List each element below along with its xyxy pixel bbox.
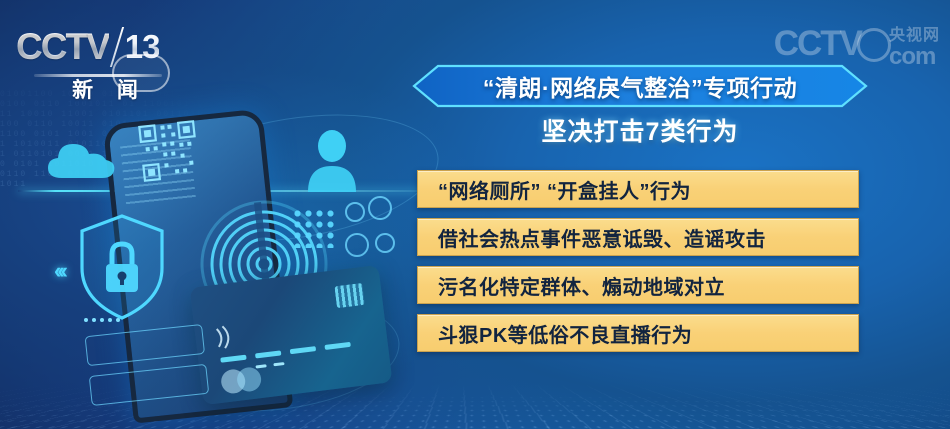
list-item: 斗狠PK等低俗不良直播行为 (417, 314, 859, 352)
cloud-icon (46, 138, 116, 182)
network-node-2 (368, 196, 392, 220)
card-brand-logo (220, 366, 265, 395)
watermark-brand: CCTV (774, 26, 861, 62)
broadcast-screen: 01001100 10110 01101 0100110 1011001 001… (0, 0, 950, 429)
list-item-label: 借社会热点事件恶意诋毁、造谣攻击 (438, 223, 766, 252)
list-item-label: 污名化特定群体、煽动地域对立 (438, 271, 725, 300)
chevron-left-icon: ‹‹‹ (54, 258, 64, 284)
card-chip (334, 283, 364, 308)
form-field-1 (85, 324, 205, 366)
form-fields-decor (85, 324, 210, 408)
qr-code-icon (137, 119, 201, 183)
campaign-title: “清朗·网络戾气整治”专项行动 (412, 64, 868, 108)
network-node-3 (345, 233, 369, 257)
list-item: 污名化特定群体、煽动地域对立 (417, 266, 859, 304)
campaign-title-banner: “清朗·网络戾气整治”专项行动 (412, 64, 868, 108)
cctv-com-watermark: CCTV 央视网 com (774, 26, 940, 69)
network-nodes-icon (345, 202, 365, 222)
behavior-list: “网络厕所” “开盒挂人”行为 借社会热点事件恶意诋毁、造谣攻击 污名化特定群体… (417, 170, 859, 362)
watermark-cn: 央视网 (889, 28, 940, 44)
shield-lock-icon (76, 212, 168, 322)
list-item: “网络厕所” “开盒挂人”行为 (417, 170, 859, 208)
watermark-domain: com (889, 45, 940, 69)
contactless-icon (212, 323, 237, 351)
list-item: 借社会热点事件恶意诋毁、造谣攻击 (417, 218, 859, 256)
cctv13-logo: CCTV 13 新 闻 (16, 26, 166, 100)
campaign-subtitle: 坚决打击7类行为 (412, 112, 868, 148)
progress-dots-decor (84, 318, 120, 322)
channel-name-cn: 新 闻 (50, 74, 160, 104)
user-avatar-icon (305, 130, 359, 192)
globe-icon (857, 28, 891, 62)
list-item-label: 斗狠PK等低俗不良直播行为 (438, 319, 692, 348)
card-number-dashes (220, 342, 351, 363)
credit-card-icon (190, 265, 393, 405)
cctv-wordmark: CCTV (16, 26, 109, 68)
network-node-4 (375, 233, 395, 253)
pixel-grid-decor (292, 208, 338, 248)
list-item-label: “网络厕所” “开盒挂人”行为 (438, 175, 691, 204)
